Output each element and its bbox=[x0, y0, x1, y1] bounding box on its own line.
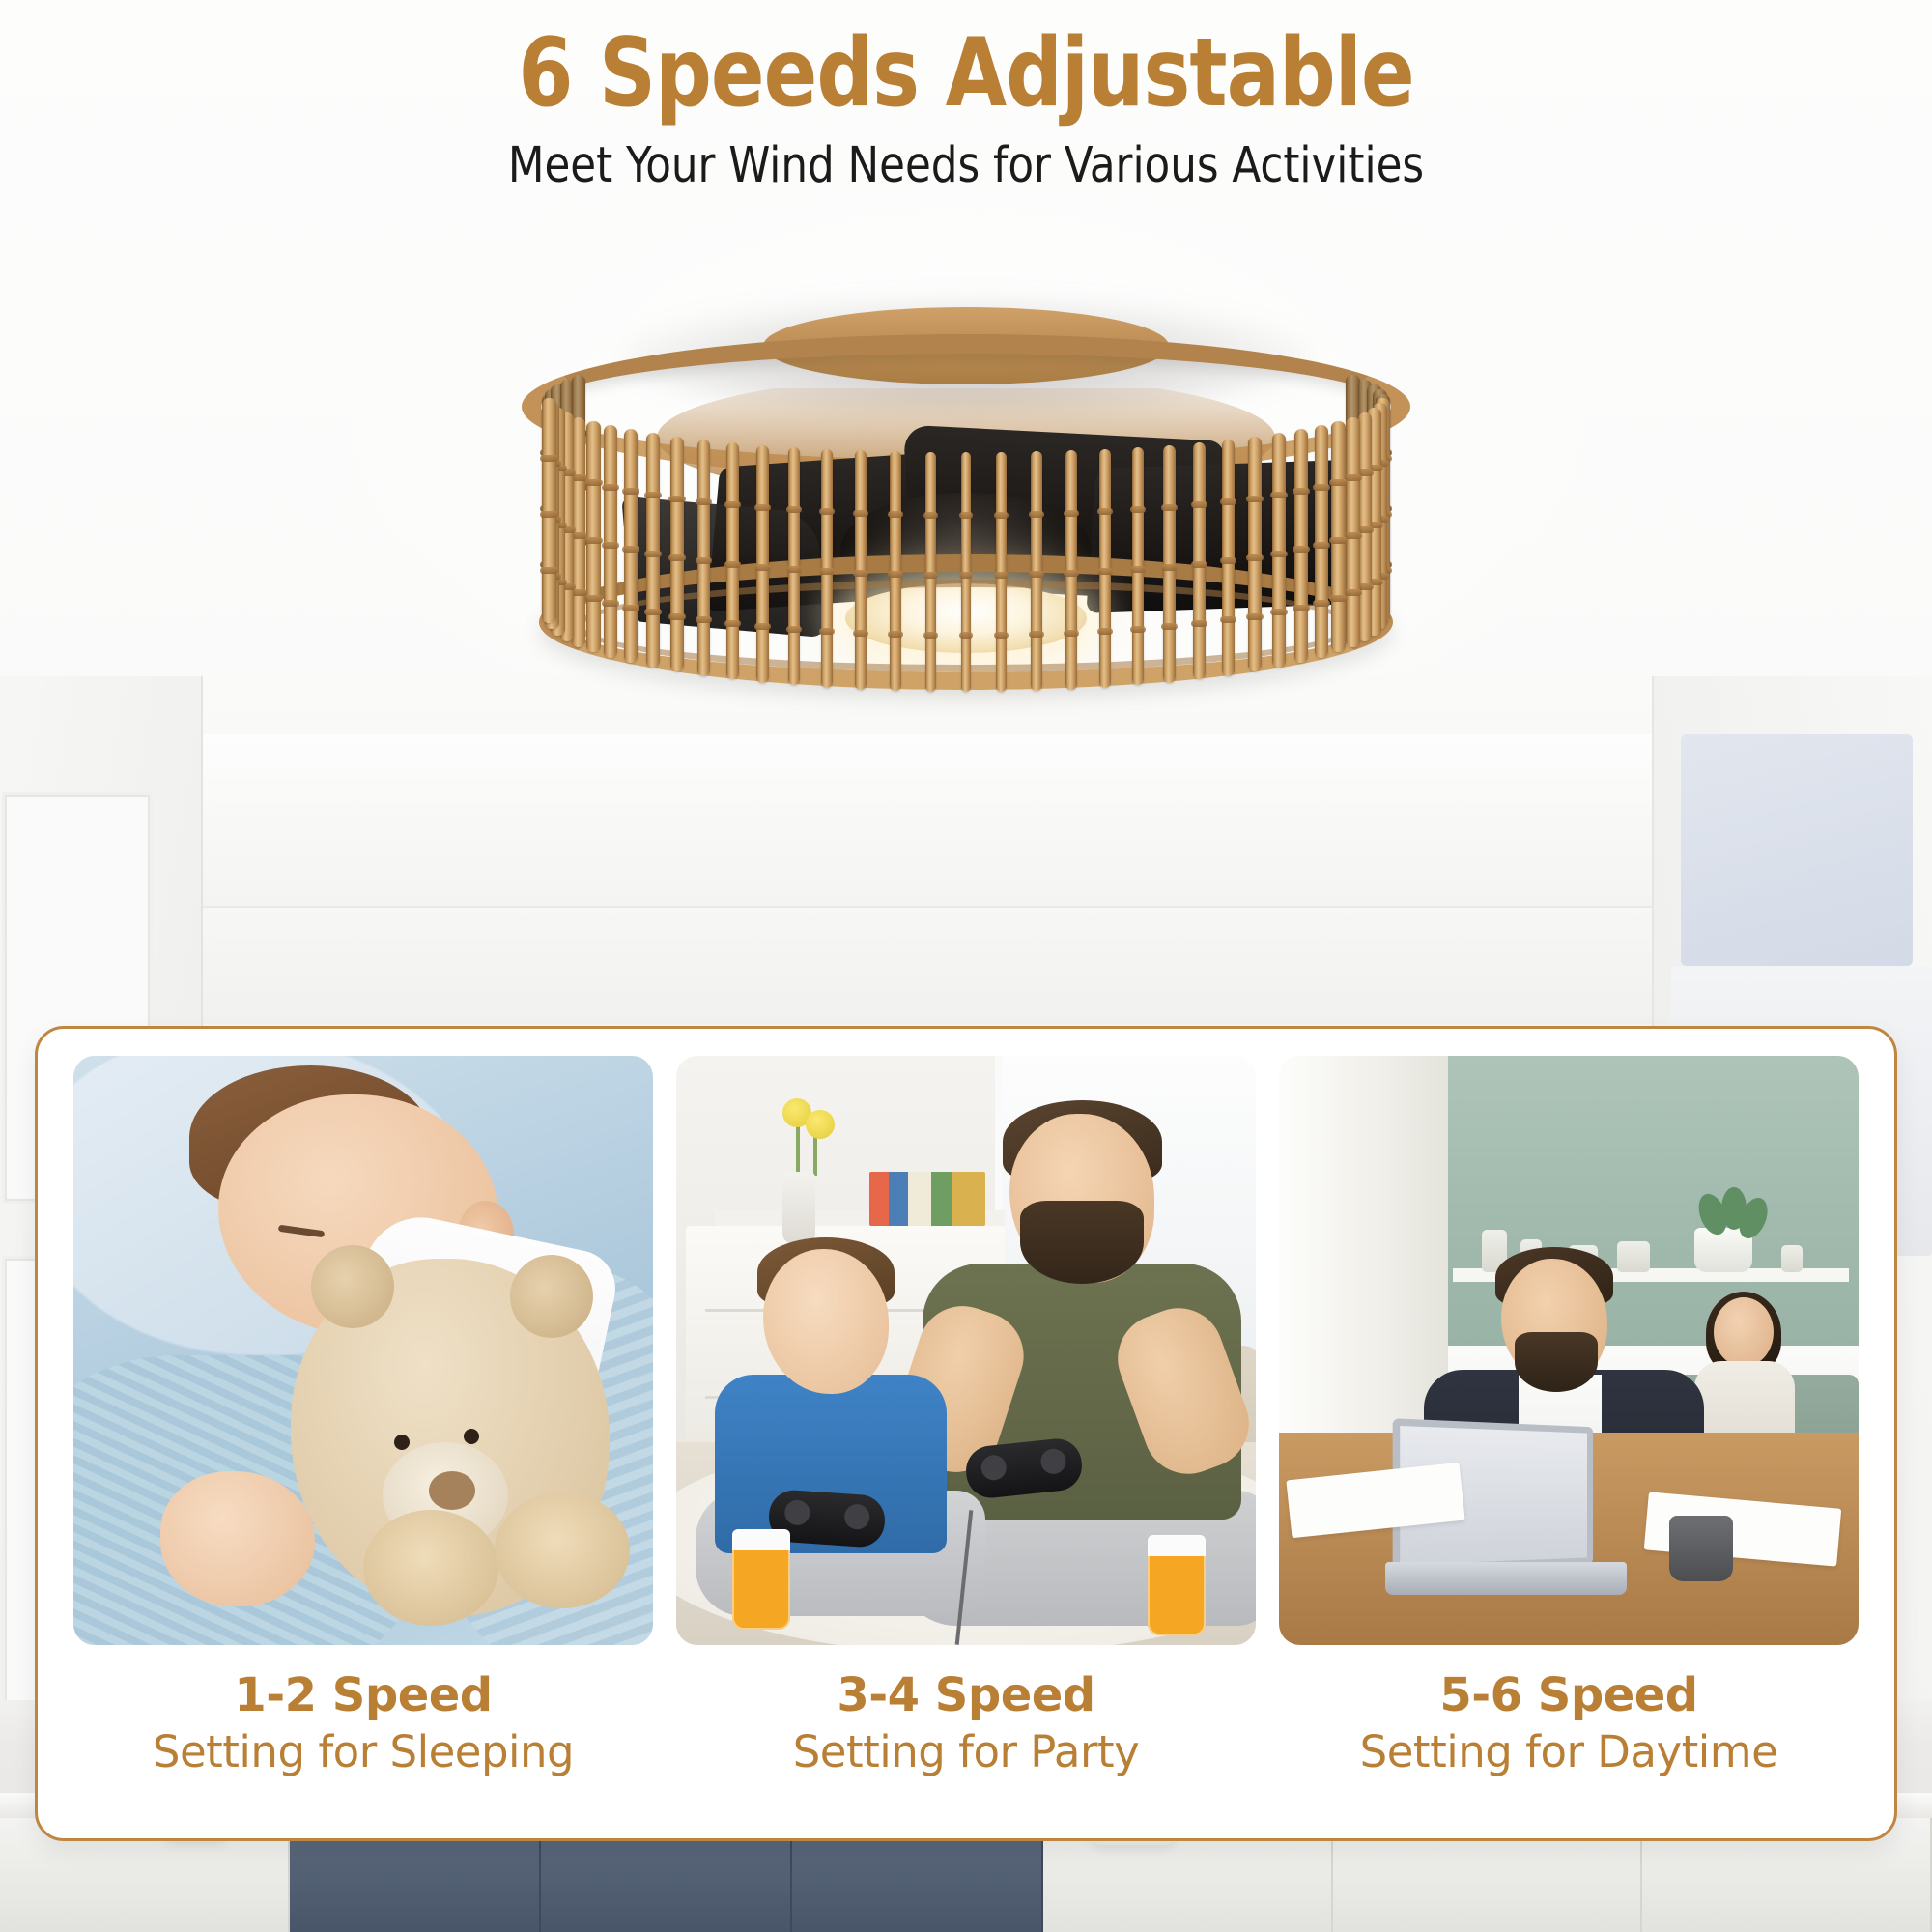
bamboo-node bbox=[1371, 516, 1389, 523]
setting-label: Setting for Sleeping bbox=[73, 1726, 653, 1777]
bamboo-node bbox=[549, 579, 567, 585]
decor-box bbox=[1617, 1241, 1650, 1272]
window-shade bbox=[1681, 734, 1913, 966]
bamboo-node bbox=[1365, 495, 1383, 501]
bamboo-node bbox=[543, 516, 561, 523]
bamboo-node bbox=[1374, 455, 1392, 462]
header-block: 6 Speeds Adjustable Meet Your Wind Needs… bbox=[0, 0, 1932, 193]
bamboo-node bbox=[549, 465, 567, 471]
bamboo-node bbox=[1344, 532, 1362, 539]
teddy-nose bbox=[429, 1471, 475, 1510]
bamboo-node bbox=[543, 444, 561, 451]
coffee-mug bbox=[1669, 1516, 1733, 1581]
bamboo-node bbox=[1365, 579, 1383, 585]
bamboo-node bbox=[1365, 440, 1383, 446]
bamboo-node bbox=[540, 511, 558, 518]
bamboo-node bbox=[570, 539, 588, 546]
juice-glass bbox=[732, 1529, 790, 1630]
bamboo-node bbox=[543, 573, 561, 580]
bamboo-slat bbox=[545, 403, 559, 629]
sleeping-toddler-photo bbox=[73, 1056, 653, 1645]
speed-label: 3-4 Speed bbox=[676, 1668, 1256, 1722]
man-working-on-laptop-photo bbox=[1279, 1056, 1859, 1645]
ceiling-fan-product bbox=[522, 301, 1410, 688]
speed-label: 1-2 Speed bbox=[73, 1668, 653, 1722]
speed-label: 5-6 Speed bbox=[1279, 1668, 1859, 1722]
laptop-keyboard bbox=[1385, 1562, 1627, 1595]
flower bbox=[806, 1110, 835, 1139]
bamboo-node bbox=[549, 495, 567, 501]
bamboo-node bbox=[1374, 449, 1392, 456]
bamboo-node bbox=[1356, 545, 1375, 552]
father-and-son-gaming-photo bbox=[676, 1056, 1256, 1645]
teddy-ear bbox=[510, 1255, 593, 1338]
bamboo-node bbox=[570, 532, 588, 539]
bamboo-node bbox=[1371, 555, 1389, 562]
books bbox=[869, 1172, 985, 1226]
woman-head bbox=[1714, 1297, 1774, 1367]
vase bbox=[782, 1172, 815, 1243]
bamboo-node bbox=[549, 522, 567, 528]
speed-cells: 1-2 Speed Setting for Sleeping bbox=[38, 1056, 1894, 1777]
bamboo-node bbox=[1344, 474, 1362, 481]
bamboo-node bbox=[1356, 583, 1375, 590]
bamboo-node bbox=[1374, 567, 1392, 574]
bamboo-node bbox=[1344, 539, 1362, 546]
bamboo-node bbox=[543, 460, 561, 467]
bamboo-node bbox=[540, 505, 558, 512]
juice-glass bbox=[1148, 1535, 1206, 1635]
bamboo-node bbox=[1374, 511, 1392, 518]
bamboo-node bbox=[558, 526, 577, 533]
bamboo-slat bbox=[1373, 403, 1387, 629]
page-subtitle: Meet Your Wind Needs for Various Activit… bbox=[48, 139, 1884, 193]
bamboo-node bbox=[1365, 522, 1383, 528]
speed-settings-card: 1-2 Speed Setting for Sleeping bbox=[35, 1026, 1897, 1841]
man-beard bbox=[1515, 1332, 1598, 1392]
setting-label: Setting for Daytime bbox=[1279, 1726, 1859, 1777]
teddy-ear bbox=[311, 1245, 394, 1328]
bamboo-node bbox=[1371, 573, 1389, 580]
bamboo-node bbox=[549, 440, 567, 446]
bamboo-node bbox=[1356, 526, 1375, 533]
bamboo-node bbox=[1374, 561, 1392, 568]
bamboo-node bbox=[1356, 469, 1375, 476]
toddler-hand bbox=[160, 1471, 315, 1606]
bamboo-node bbox=[1365, 465, 1383, 471]
bamboo-node bbox=[1344, 484, 1362, 491]
bamboo-node bbox=[1371, 500, 1389, 507]
bamboo-node bbox=[570, 474, 588, 481]
bamboo-node bbox=[540, 567, 558, 574]
bamboo-node bbox=[1371, 460, 1389, 467]
bamboo-node bbox=[558, 545, 577, 552]
bamboo-node bbox=[570, 484, 588, 491]
bamboo-node bbox=[1356, 490, 1375, 497]
bamboo-node bbox=[1374, 505, 1392, 512]
teddy-eye bbox=[464, 1429, 479, 1444]
teddy-paw bbox=[363, 1510, 498, 1626]
bamboo-node bbox=[1365, 550, 1383, 556]
bamboo-node bbox=[558, 490, 577, 497]
decor-jar bbox=[1781, 1245, 1803, 1272]
teddy-paw bbox=[495, 1492, 630, 1608]
bamboo-node bbox=[540, 455, 558, 462]
teddy-eye bbox=[394, 1435, 410, 1450]
bamboo-node bbox=[558, 469, 577, 476]
father-beard bbox=[1020, 1201, 1144, 1284]
bamboo-node bbox=[540, 561, 558, 568]
setting-label: Setting for Party bbox=[676, 1726, 1256, 1777]
page-title: 6 Speeds Adjustable bbox=[68, 25, 1864, 124]
bamboo-node bbox=[543, 500, 561, 507]
bamboo-node bbox=[558, 583, 577, 590]
cage-bottom-inner-ring bbox=[576, 580, 1356, 672]
speed-cell: 3-4 Speed Setting for Party bbox=[676, 1056, 1256, 1777]
bamboo-node bbox=[1371, 444, 1389, 451]
speed-cell: 5-6 Speed Setting for Daytime bbox=[1279, 1056, 1859, 1777]
bamboo-node bbox=[543, 555, 561, 562]
bamboo-node bbox=[540, 449, 558, 456]
bamboo-node bbox=[549, 550, 567, 556]
speed-cell: 1-2 Speed Setting for Sleeping bbox=[73, 1056, 653, 1777]
